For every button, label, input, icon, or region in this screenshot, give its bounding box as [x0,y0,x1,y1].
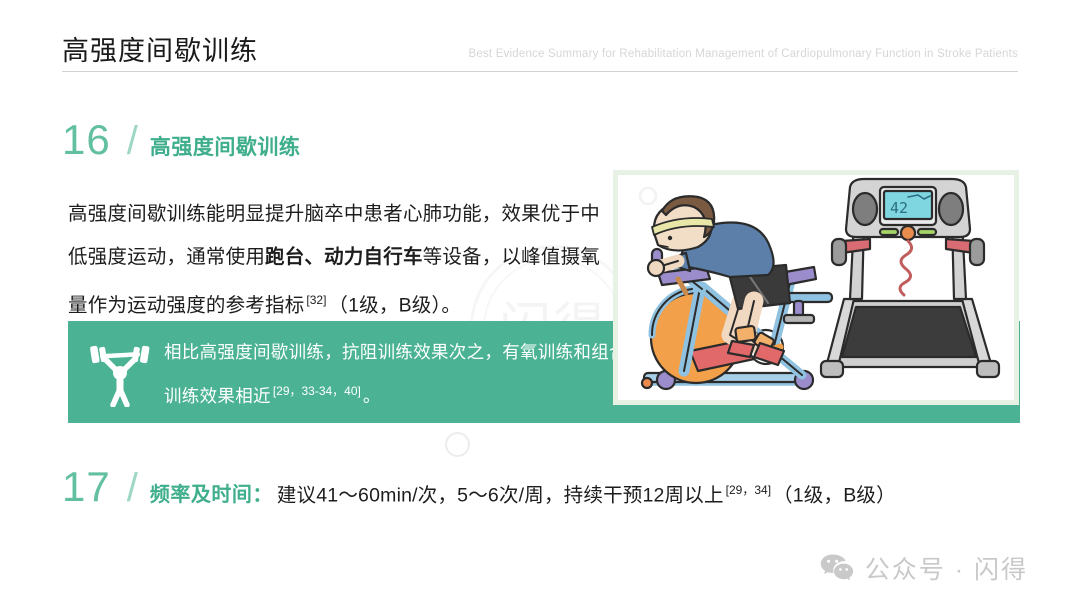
item-17-grade: （1级，B级） [773,484,896,506]
item-16-separator: / [127,121,138,161]
footer-credit-text: 公众号 · 闪得 [865,550,1028,586]
item-17-number: 17 [62,466,111,508]
header-divider [62,71,1018,72]
treadmill-display-value: 42 [890,199,908,217]
callout-text: 相比高强度间歇训练，抗阻训练效果次之，有氧训练和组合训练效果相近[29，33-3… [164,333,630,416]
item-16-number: 16 [62,119,111,161]
item-17-label: 频率及时间： [150,485,273,505]
wechat-icon [820,553,854,583]
item-16-body: 高强度间歇训练能明显提升脑卒中患者心肺功能，效果优于中低强度运动，通常使用跑台、… [68,193,600,328]
item-17-main-text: 建议41～60min/次，5～6次/周，持续干预12周以上 [277,484,724,506]
item-16-reference: [32] [304,293,328,307]
item-17-text: 建议41～60min/次，5～6次/周，持续干预12周以上[29，34]（1级，… [277,484,896,506]
illustration-svg: 42 [618,175,1014,400]
callout-suffix: 。 [363,386,381,406]
decorative-circle-icon [445,432,470,457]
exercise-equipment-illustration: 42 [613,170,1019,405]
item-16-heading: 16 / 高强度间歇训练 [62,119,300,171]
item-17-reference: [29，34] [724,483,773,497]
item-16-label: 高强度间歇训练 [150,137,301,158]
item-17-separator: / [127,468,138,508]
item-16-body-emphasis: 跑台、动力自行车 [265,246,423,268]
callout-reference: [29，33-34，40] [271,384,363,398]
page-header: 高强度间歇训练 Best Evidence Summary for Rehabi… [0,0,1080,84]
callout-main-text: 相比高强度间歇训练，抗阻训练效果次之，有氧训练和组合训练效果相近 [164,342,627,406]
weightlifter-icon [86,337,154,407]
item-16-grade: （1级，B级）。 [328,295,461,317]
footer-credit: 公众号 · 闪得 [820,550,1028,586]
page-title: 高强度间歇训练 [62,29,258,68]
page-subtitle: Best Evidence Summary for Rehabilitation… [468,48,1018,60]
item-17-heading: 17 / 频率及时间： 建议41～60min/次，5～6次/周，持续干预12周以… [62,466,896,508]
